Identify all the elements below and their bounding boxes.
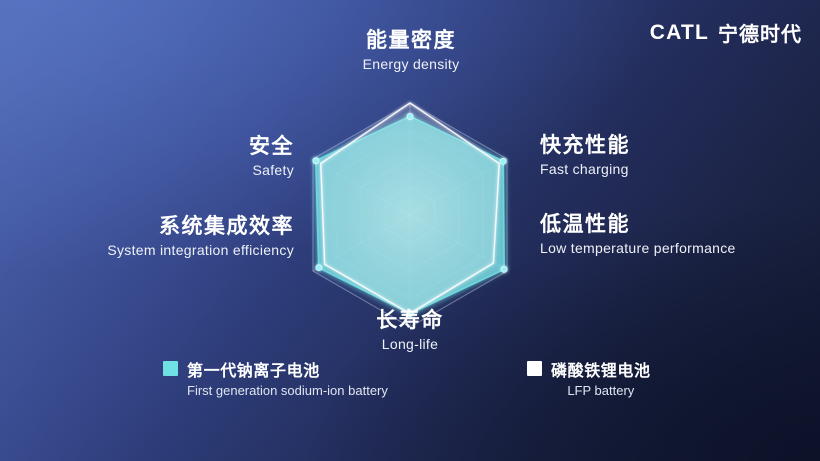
- axis-label-low-temperature-cn: 低温性能: [540, 212, 750, 237]
- chart-legend: 第一代钠离子电池 First generation sodium-ion bat…: [0, 357, 820, 407]
- radar-series-group: [316, 103, 504, 314]
- radar-vertex-sodium-ion-0: [407, 113, 413, 119]
- legend-label-sodium-ion-cn: 第一代钠离子电池: [187, 357, 388, 381]
- radar-vertex-sodium-ion-5: [313, 158, 319, 164]
- legend-label-lfp-cn: 磷酸铁锂电池: [551, 357, 651, 381]
- legend-text-lfp: 磷酸铁锂电池 LFP battery: [551, 357, 651, 398]
- axis-label-safety: 安全 Safety: [70, 134, 294, 178]
- axis-label-energy-density: 能量密度 Energy density: [291, 28, 531, 72]
- axis-label-system-integration-cn: 系统集成效率: [60, 214, 294, 239]
- legend-item-sodium-ion[interactable]: 第一代钠离子电池 First generation sodium-ion bat…: [163, 357, 388, 398]
- axis-label-system-integration: 系统集成效率 System integration efficiency: [60, 214, 294, 258]
- legend-swatch-sodium-ion: [163, 361, 178, 376]
- legend-label-lfp-en: LFP battery: [551, 383, 651, 398]
- axis-label-safety-en: Safety: [70, 162, 294, 179]
- axis-label-long-life: 长寿命 Long-life: [290, 308, 530, 352]
- axis-label-low-temperature-en: Low temperature performance: [540, 240, 750, 257]
- axis-label-fast-charging: 快充性能 Fast charging: [540, 133, 760, 177]
- slide-canvas: CATL 宁德时代: [0, 0, 820, 461]
- axis-label-fast-charging-cn: 快充性能: [540, 133, 760, 158]
- axis-label-system-integration-en: System integration efficiency: [60, 242, 294, 259]
- legend-swatch-lfp: [527, 361, 542, 376]
- legend-text-sodium-ion: 第一代钠离子电池 First generation sodium-ion bat…: [187, 357, 388, 398]
- radar-vertex-sodium-ion-2: [501, 266, 507, 272]
- radar-vertex-sodium-ion-4: [316, 265, 322, 271]
- legend-label-sodium-ion-en: First generation sodium-ion battery: [187, 383, 388, 398]
- axis-label-energy-density-en: Energy density: [291, 56, 531, 73]
- legend-item-lfp[interactable]: 磷酸铁锂电池 LFP battery: [527, 357, 651, 398]
- axis-label-energy-density-cn: 能量密度: [291, 28, 531, 53]
- axis-label-long-life-cn: 长寿命: [290, 308, 530, 333]
- axis-label-safety-cn: 安全: [70, 134, 294, 159]
- radar-vertex-sodium-ion-1: [500, 158, 506, 164]
- axis-label-low-temperature: 低温性能 Low temperature performance: [540, 212, 750, 256]
- axis-label-long-life-en: Long-life: [290, 336, 530, 353]
- axis-label-fast-charging-en: Fast charging: [540, 161, 760, 178]
